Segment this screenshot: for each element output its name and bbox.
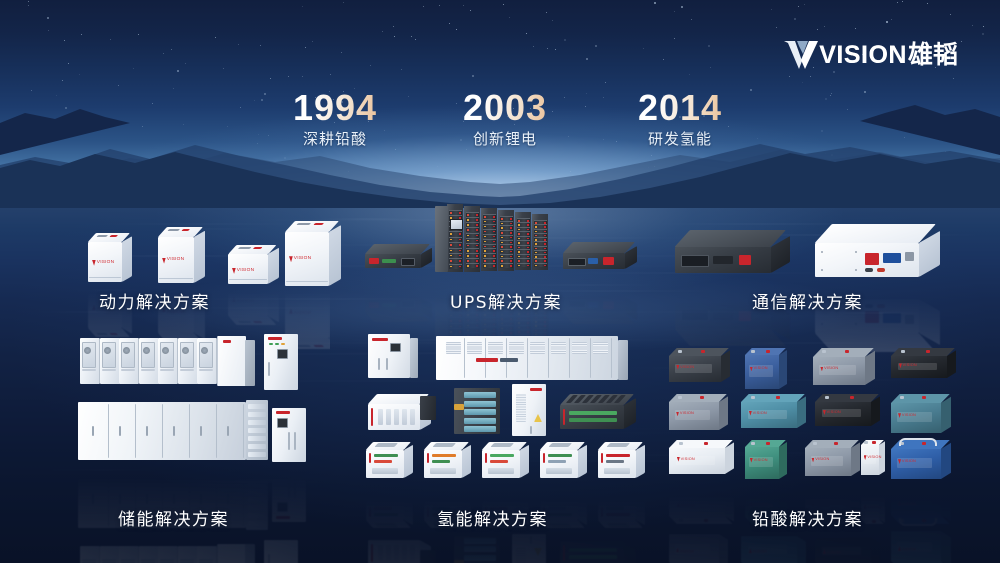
product-brand-text: VISION bbox=[680, 412, 694, 415]
battery-terminal-positive bbox=[872, 441, 876, 444]
product-group-power: VISIONVISIONVISIONVISION bbox=[80, 205, 330, 285]
tray-led bbox=[535, 243, 537, 245]
container-door-8 bbox=[591, 338, 612, 378]
cabinet-door-1 bbox=[82, 404, 109, 458]
container-door-1 bbox=[444, 338, 465, 378]
tray-led-2 bbox=[544, 256, 546, 258]
category-label-ups: UPS解决方案 bbox=[450, 288, 562, 313]
module-stripe bbox=[369, 453, 371, 463]
battery-terminal-positive bbox=[926, 350, 930, 353]
hydrogen-fuelcell-stack bbox=[454, 388, 500, 434]
lead-acid-battery-r1-c2: VISION bbox=[745, 348, 793, 389]
accent-primary bbox=[374, 454, 398, 457]
tray-led bbox=[467, 265, 469, 267]
module-base bbox=[430, 468, 456, 474]
brand-stripe bbox=[372, 338, 388, 341]
tray-led-2 bbox=[510, 242, 512, 244]
battery-side bbox=[941, 443, 951, 479]
battery-terminal-negative bbox=[900, 396, 904, 399]
battery-front: VISION bbox=[745, 355, 779, 389]
cabinet-door-4 bbox=[163, 404, 190, 458]
battery-terminal-positive bbox=[766, 442, 770, 445]
tray-led-2 bbox=[510, 251, 512, 253]
latch bbox=[905, 252, 914, 261]
power-battery-module-1: VISION bbox=[88, 233, 138, 282]
tray-led bbox=[501, 246, 503, 248]
brand-stripe bbox=[268, 337, 282, 340]
vision-v-mark-icon bbox=[784, 40, 818, 70]
cabinet-shelf-5 bbox=[248, 436, 266, 441]
tray-led bbox=[467, 255, 469, 257]
tray-led-2 bbox=[510, 260, 512, 262]
cabinet-door-5 bbox=[190, 404, 217, 458]
door-handle-3 bbox=[146, 426, 148, 436]
lead-acid-battery-r3-c4: VISION bbox=[861, 440, 889, 475]
stack-plate-2 bbox=[464, 401, 496, 407]
stack-plate-5 bbox=[464, 426, 496, 432]
ups-rack-unit-right bbox=[563, 242, 645, 269]
tray-led-2 bbox=[476, 224, 478, 226]
battery-terminal-negative bbox=[679, 442, 683, 445]
tray-led bbox=[450, 244, 452, 246]
battery-side bbox=[865, 351, 875, 385]
product-brand-mark bbox=[162, 258, 166, 264]
tray-led-2 bbox=[493, 260, 495, 262]
tray-led bbox=[501, 265, 503, 267]
cabinet-display bbox=[277, 418, 288, 428]
tray-led-2 bbox=[510, 223, 512, 225]
accent-primary bbox=[432, 454, 456, 457]
container-side bbox=[618, 340, 628, 380]
battery-side bbox=[947, 351, 956, 378]
stack-plate-1 bbox=[464, 392, 496, 398]
tray-led bbox=[535, 256, 537, 258]
tray-led bbox=[501, 218, 503, 220]
battery-tray bbox=[517, 263, 530, 267]
tray-led bbox=[535, 248, 537, 250]
logo-wordmark-cn: 雄韬 bbox=[908, 40, 958, 70]
tray-led bbox=[518, 233, 520, 235]
cabinet-open-door bbox=[141, 342, 155, 368]
battery-front: VISION bbox=[805, 448, 851, 476]
tray-led bbox=[501, 227, 503, 229]
brand-logo[interactable]: VISION 雄韬 bbox=[784, 40, 958, 70]
battery-front: VISION bbox=[745, 447, 779, 479]
cabinet-open-door bbox=[199, 342, 213, 368]
ups-rack-unit-left bbox=[365, 244, 439, 268]
tray-led-2 bbox=[476, 245, 478, 247]
battery-terminal-negative bbox=[864, 441, 868, 444]
ups-rack-cabinet-1 bbox=[447, 204, 463, 272]
accent-primary bbox=[490, 454, 514, 457]
battery-terminal-negative bbox=[678, 396, 682, 399]
accent-secondary bbox=[548, 460, 566, 463]
tray-led-2 bbox=[493, 250, 495, 252]
tray-led-2 bbox=[527, 265, 529, 267]
storage-cabinet-back-5 bbox=[158, 338, 178, 384]
timeline-item-2003: 2003 创新锂电 bbox=[425, 88, 585, 149]
seam-line bbox=[89, 277, 121, 278]
product-brand-mark bbox=[289, 256, 293, 262]
battery-terminal-positive bbox=[776, 396, 780, 399]
battery-tray bbox=[534, 263, 547, 267]
accent-primary bbox=[548, 454, 572, 457]
tray-led bbox=[484, 221, 486, 223]
display-blue bbox=[588, 258, 598, 264]
storage-cabinet-side bbox=[245, 340, 255, 386]
tray-led bbox=[535, 265, 537, 267]
tray-led-2 bbox=[459, 266, 461, 268]
tray-led bbox=[535, 235, 537, 237]
screw-1 bbox=[821, 269, 823, 271]
tray-led bbox=[535, 231, 537, 233]
storage-cabinet-right-bottom bbox=[272, 408, 306, 462]
tray-led bbox=[501, 256, 503, 258]
connector-red bbox=[603, 257, 614, 265]
ups-rack-cabinet-6 bbox=[532, 214, 548, 270]
cabinet-fan bbox=[123, 347, 130, 354]
hydrogen-compact-module-5 bbox=[598, 442, 650, 478]
tray-led-2 bbox=[459, 244, 461, 246]
battery-terminal-negative bbox=[825, 396, 829, 399]
battery-carry-handle bbox=[899, 438, 937, 446]
tray-led-2 bbox=[544, 226, 546, 228]
ups-rack-cabinet-3 bbox=[481, 208, 497, 271]
hydrogen-module-dark bbox=[560, 394, 644, 429]
tray-led bbox=[484, 265, 486, 267]
battery-terminal-positive bbox=[701, 350, 705, 353]
accent-secondary bbox=[432, 460, 450, 463]
battery-terminal-negative bbox=[751, 350, 755, 353]
cabinet-open-door bbox=[160, 342, 174, 368]
tray-led bbox=[484, 246, 486, 248]
stack-plate-3 bbox=[464, 409, 496, 415]
module-stripe bbox=[485, 453, 487, 463]
telecom-battery-dark bbox=[675, 230, 801, 273]
tray-led bbox=[518, 260, 520, 262]
product-brand-text: VISION bbox=[167, 258, 184, 261]
product-brand-text: VISION bbox=[903, 364, 917, 367]
product-brand-mark bbox=[92, 260, 96, 266]
storage-cabinet-back-3 bbox=[119, 338, 139, 384]
storage-cabinet-back-end bbox=[217, 336, 246, 386]
battery-terminal-negative bbox=[751, 396, 755, 399]
hydrogen-compact-module-3 bbox=[482, 442, 534, 478]
cabinet-label bbox=[180, 369, 194, 371]
tray-led bbox=[501, 237, 503, 239]
indicator-green bbox=[382, 259, 396, 263]
tray-led bbox=[484, 255, 486, 257]
connector-red bbox=[369, 258, 379, 264]
battery-front: VISION bbox=[669, 402, 719, 430]
product-brand-text: VISION bbox=[237, 269, 254, 272]
battery-front: VISION bbox=[891, 403, 941, 433]
module-top-plate bbox=[432, 443, 456, 447]
battery-front: VISION bbox=[891, 356, 947, 378]
ups-rack-end-panel bbox=[435, 206, 448, 272]
battery-terminal-negative bbox=[678, 350, 682, 353]
tray-led bbox=[484, 216, 486, 218]
module-fin-4 bbox=[410, 409, 415, 425]
tray-led-2 bbox=[544, 222, 546, 224]
control-display bbox=[450, 219, 463, 230]
connector-red bbox=[865, 253, 879, 265]
container-brand-stripe bbox=[476, 358, 498, 362]
tray-led-2 bbox=[510, 232, 512, 234]
logo-wordmark: VISION bbox=[819, 40, 907, 70]
tray-led bbox=[467, 224, 469, 226]
tray-led-2 bbox=[510, 227, 512, 229]
tray-led bbox=[450, 239, 452, 241]
cabinet-label bbox=[160, 369, 174, 371]
module-connector-block bbox=[420, 396, 436, 420]
cabinet-display bbox=[390, 343, 401, 352]
door-handle bbox=[268, 362, 270, 376]
cabinet-door-2 bbox=[109, 404, 136, 458]
tray-led-2 bbox=[493, 226, 495, 228]
door-handle-2 bbox=[294, 432, 296, 450]
timeline-year: 1994 bbox=[255, 88, 415, 128]
battery-front: VISION bbox=[815, 402, 871, 426]
tray-led bbox=[467, 229, 469, 231]
cabinet-open-door bbox=[180, 342, 194, 368]
stack-plate-4 bbox=[464, 418, 496, 424]
tray-led bbox=[450, 255, 452, 257]
cabinet-label bbox=[102, 369, 116, 371]
battery-front: VISION bbox=[891, 449, 941, 479]
battery-side bbox=[719, 397, 728, 430]
category-label-telecom: 通信解决方案 bbox=[752, 288, 863, 313]
terminal-strip bbox=[97, 235, 109, 237]
accent-secondary bbox=[374, 460, 392, 463]
warning-triangle-icon bbox=[534, 414, 542, 422]
module-stripe bbox=[563, 409, 565, 425]
tray-led-2 bbox=[527, 242, 529, 244]
hydrogen-small-cabinet bbox=[512, 384, 546, 436]
storage-cabinet-back-4 bbox=[139, 338, 159, 384]
storage-cabinet-back-7 bbox=[197, 338, 217, 384]
accent-green-2 bbox=[569, 418, 617, 422]
door-handle bbox=[288, 432, 290, 450]
tray-led bbox=[518, 229, 520, 231]
tray-led bbox=[484, 231, 486, 233]
product-brand-text: VISION bbox=[97, 261, 114, 264]
stack-port-amber bbox=[454, 404, 464, 410]
cabinet-open-door bbox=[121, 342, 135, 368]
tray-led bbox=[501, 223, 503, 225]
tray-led bbox=[450, 260, 452, 262]
brand-stripe bbox=[223, 340, 231, 343]
product-group-hydrogen bbox=[362, 330, 647, 485]
battery-front: VISION bbox=[669, 356, 721, 382]
battery-terminal-positive bbox=[922, 396, 926, 399]
cabinet-fan bbox=[182, 347, 189, 354]
product-brand-text: VISION bbox=[753, 412, 767, 415]
tray-led-2 bbox=[459, 260, 461, 262]
tray-led bbox=[467, 219, 469, 221]
tray-led bbox=[518, 224, 520, 226]
timeline-subtitle: 创新锂电 bbox=[425, 129, 585, 149]
storage-cabinet-back-2 bbox=[100, 338, 120, 384]
connector-red bbox=[739, 255, 751, 265]
tray-led bbox=[501, 251, 503, 253]
tray-led bbox=[467, 214, 469, 216]
tray-led bbox=[467, 260, 469, 262]
cabinet-fan bbox=[143, 347, 150, 354]
terminal-positive bbox=[110, 235, 119, 237]
container-door-6 bbox=[549, 338, 570, 378]
battery-terminal-positive bbox=[850, 396, 854, 399]
module-stripe bbox=[543, 453, 545, 463]
product-brand-text: VISION bbox=[827, 411, 841, 414]
battery-tray bbox=[449, 264, 462, 269]
power-battery-module-3: VISION bbox=[228, 245, 285, 284]
module-base bbox=[604, 468, 630, 474]
cabinet-label bbox=[121, 369, 135, 371]
led-green bbox=[269, 343, 273, 345]
door-handle-5 bbox=[200, 426, 202, 436]
tray-led-2 bbox=[527, 220, 529, 222]
tray-led bbox=[518, 256, 520, 258]
battery-front: VISION bbox=[741, 402, 797, 428]
tray-led-2 bbox=[544, 252, 546, 254]
accent-secondary bbox=[606, 460, 624, 463]
accent-secondary bbox=[490, 460, 508, 463]
product-brand-text: VISION bbox=[681, 458, 695, 461]
module-stripe bbox=[601, 453, 603, 463]
battery-side bbox=[721, 351, 730, 382]
tray-led bbox=[450, 233, 452, 235]
door-handle-2 bbox=[386, 358, 388, 370]
terminal-positive bbox=[313, 223, 324, 225]
product-group-leadacid: VISIONVISIONVISIONVISIONVISIONVISIONVISI… bbox=[665, 342, 960, 482]
timeline-year: 2003 bbox=[425, 88, 585, 128]
tray-led-2 bbox=[544, 235, 546, 237]
accent-green bbox=[569, 411, 617, 415]
tray-led-2 bbox=[459, 212, 461, 214]
tray-led bbox=[450, 212, 452, 214]
timeline-item-1994: 1994 深耕铅酸 bbox=[255, 88, 415, 149]
battery-side bbox=[779, 442, 787, 479]
battery-side bbox=[725, 443, 734, 474]
lead-acid-battery-r1-c1: VISION bbox=[669, 348, 737, 382]
lead-acid-battery-r3-c3: VISION bbox=[805, 440, 867, 476]
tray-led-2 bbox=[493, 236, 495, 238]
tray-led-2 bbox=[459, 239, 461, 241]
product-brand-text: VISION bbox=[867, 456, 881, 459]
tray-led-2 bbox=[459, 255, 461, 257]
category-label-hydrogen: 氢能解决方案 bbox=[437, 505, 548, 530]
lead-acid-battery-r2-c2: VISION bbox=[741, 394, 813, 428]
battery-side bbox=[941, 397, 951, 433]
module-fin-0 bbox=[378, 409, 383, 425]
tray-led-2 bbox=[510, 237, 512, 239]
hydrogen-compact-module-4 bbox=[540, 442, 592, 478]
battery-terminal-positive bbox=[700, 396, 704, 399]
tray-led bbox=[501, 260, 503, 262]
terminal-strip bbox=[238, 247, 252, 249]
brand-stripe bbox=[276, 411, 290, 414]
cabinet-fan bbox=[201, 347, 208, 354]
tray-led bbox=[450, 250, 452, 252]
tray-led bbox=[501, 232, 503, 234]
category-label-storage: 储能解决方案 bbox=[118, 505, 229, 530]
tray-led-2 bbox=[493, 241, 495, 243]
timeline-subtitle: 深耕铅酸 bbox=[255, 129, 415, 149]
tray-led bbox=[484, 250, 486, 252]
hydrogen-cabinet-side bbox=[410, 338, 418, 378]
power-battery-module-4: VISION bbox=[285, 221, 349, 286]
vent-grille bbox=[516, 394, 526, 422]
product-brand-text: VISION bbox=[294, 257, 311, 260]
module-base bbox=[546, 468, 572, 474]
door-handle-2 bbox=[119, 426, 121, 436]
cabinet-display bbox=[277, 349, 288, 359]
tray-led-2 bbox=[510, 256, 512, 258]
tray-led-2 bbox=[476, 214, 478, 216]
cabinet-fan bbox=[104, 347, 111, 354]
timeline-year: 2014 bbox=[600, 88, 760, 128]
tray-led-2 bbox=[476, 229, 478, 231]
module-stripe bbox=[371, 408, 373, 426]
tray-led-2 bbox=[476, 250, 478, 252]
hydrogen-compact-module-1 bbox=[366, 442, 418, 478]
product-brand-text: VISION bbox=[902, 460, 916, 463]
tray-led-2 bbox=[510, 265, 512, 267]
product-brand-text: VISION bbox=[902, 414, 916, 417]
tray-led bbox=[467, 250, 469, 252]
port-group bbox=[713, 256, 733, 264]
tray-led bbox=[484, 260, 486, 262]
timeline-item-2014: 2014 研发氢能 bbox=[600, 88, 760, 149]
poster-stage: VISION 雄韬 1994 深耕铅酸 2003 创新锂电 2014 研发氢能 … bbox=[0, 0, 1000, 563]
lead-acid-battery-r1-c4: VISION bbox=[891, 348, 963, 378]
port-panel bbox=[401, 258, 415, 266]
tray-led-2 bbox=[527, 229, 529, 231]
tray-led bbox=[518, 242, 520, 244]
product-brand-text: VISION bbox=[680, 366, 694, 369]
tray-led-2 bbox=[493, 255, 495, 257]
cabinet-door-3 bbox=[136, 404, 163, 458]
door-handle-6 bbox=[227, 426, 229, 436]
door-handle-1 bbox=[92, 426, 94, 436]
accent-primary bbox=[606, 454, 630, 457]
tray-led bbox=[518, 265, 520, 267]
cabinet-open-door bbox=[102, 342, 116, 368]
tray-led bbox=[535, 226, 537, 228]
hydrogen-cabinet bbox=[368, 334, 410, 378]
door-handle-4 bbox=[173, 426, 175, 436]
lead-acid-battery-r3-c1: VISION bbox=[669, 440, 741, 474]
screw-3 bbox=[855, 269, 857, 271]
battery-terminal-positive bbox=[704, 442, 708, 445]
tray-led-2 bbox=[476, 240, 478, 242]
tray-led-2 bbox=[493, 216, 495, 218]
lead-acid-battery-r3-c2: VISION bbox=[745, 440, 793, 479]
cabinet-fan bbox=[84, 347, 91, 354]
storage-cabinet-back-6 bbox=[178, 338, 198, 384]
category-label-leadacid: 铅酸解决方案 bbox=[752, 505, 863, 530]
tray-led bbox=[535, 239, 537, 241]
cabinet-shelf-3 bbox=[248, 420, 266, 425]
tray-led bbox=[484, 241, 486, 243]
module-fin-3 bbox=[402, 409, 407, 425]
battery-terminal-positive bbox=[845, 350, 849, 353]
tray-led bbox=[518, 251, 520, 253]
lead-acid-battery-r2-c3: VISION bbox=[815, 394, 887, 426]
door-handle bbox=[378, 358, 380, 370]
container-brand-text bbox=[500, 358, 518, 362]
